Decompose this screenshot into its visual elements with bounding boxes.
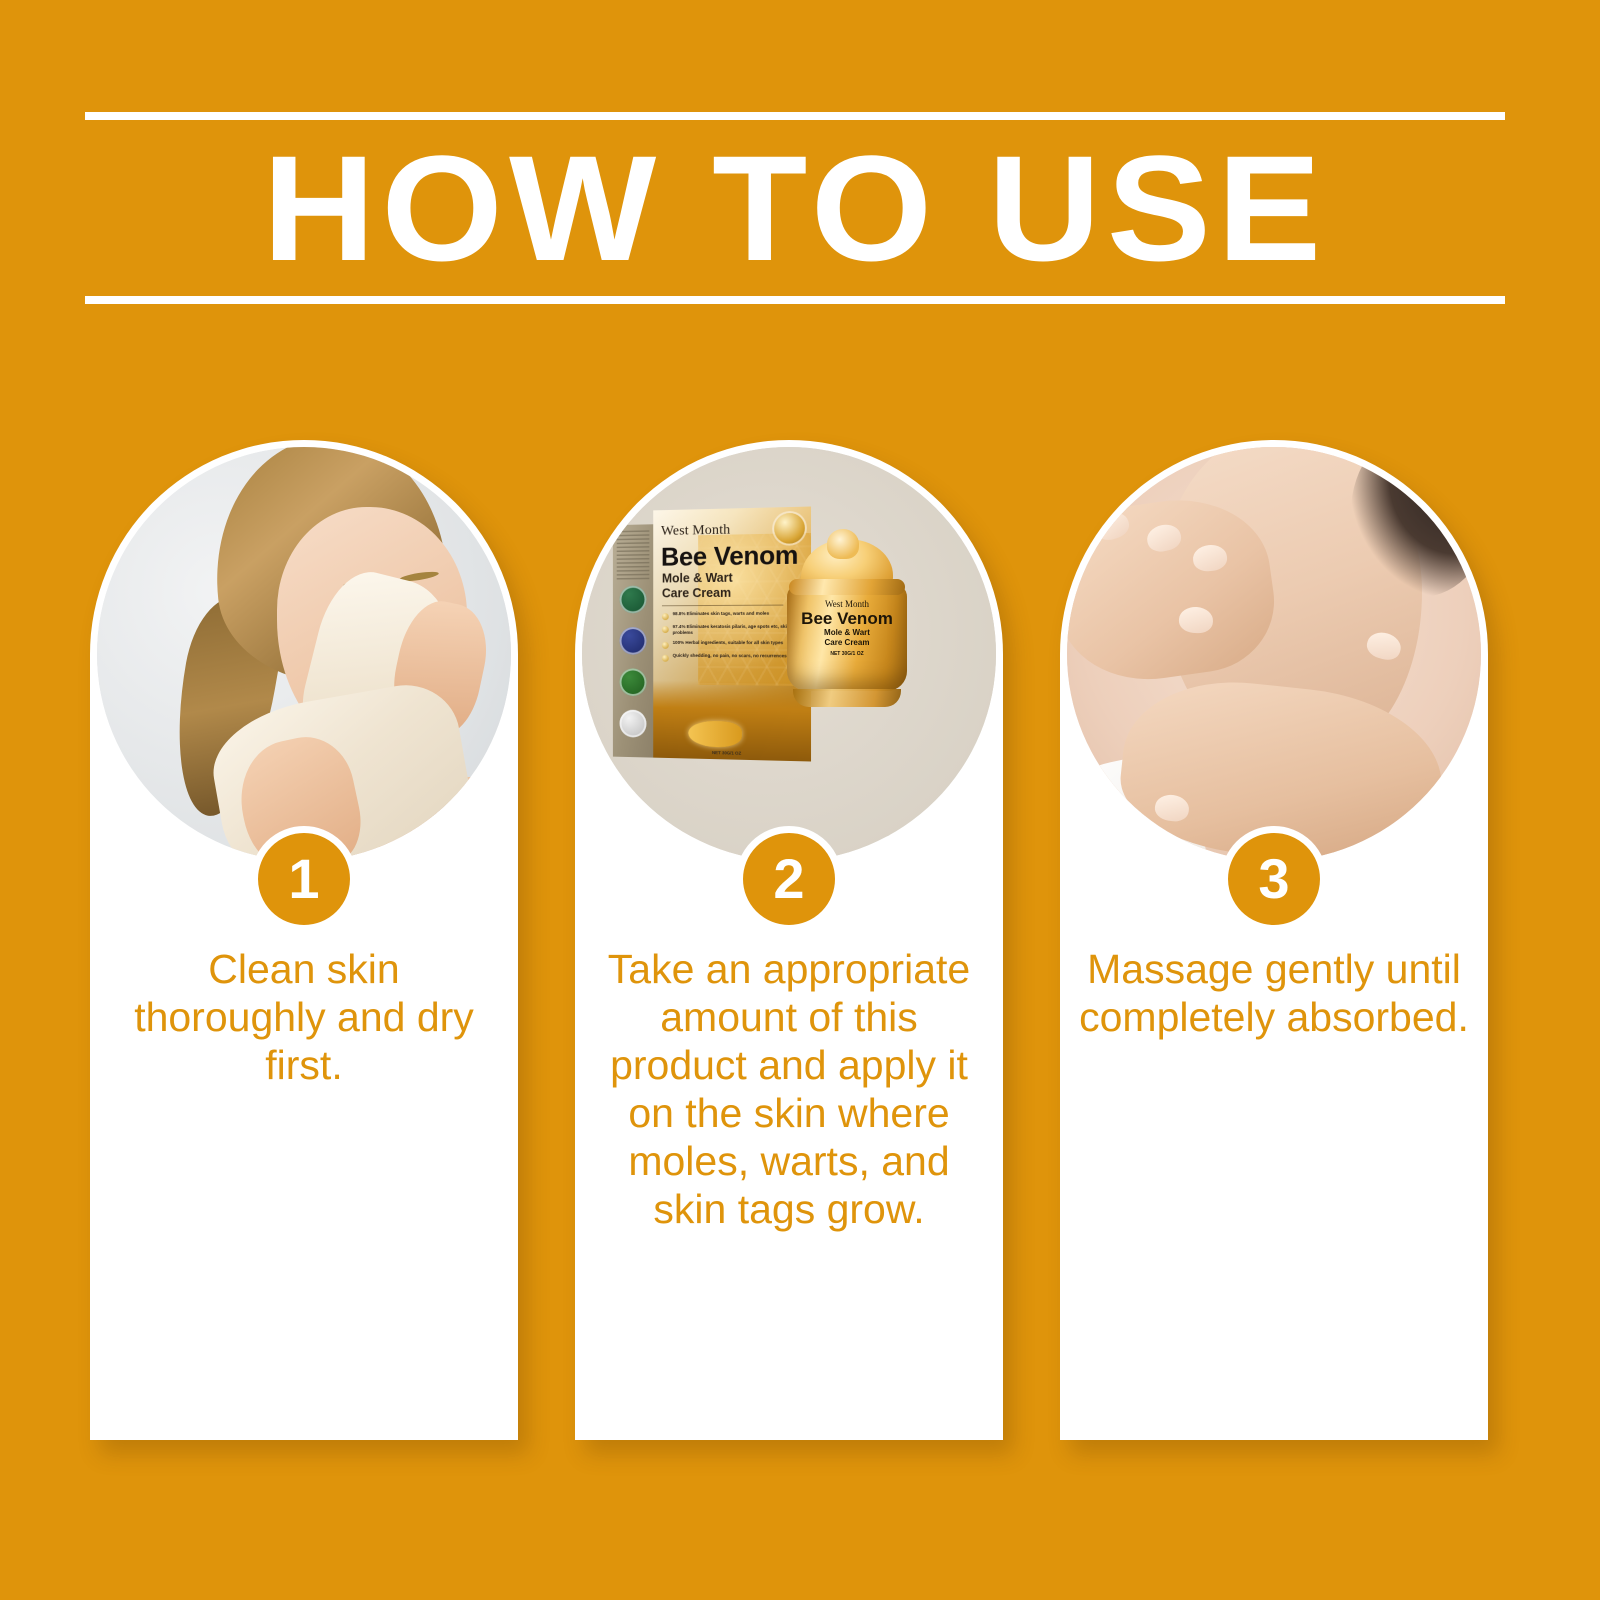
step-3-photo (1067, 447, 1481, 861)
box-bullet-item: 97.4% Eliminates keratosis pilaris, age … (662, 624, 802, 636)
box-badge-eliminate-warts (620, 586, 647, 614)
step-description-3: Massage gently until completely absorbed… (1078, 945, 1470, 1041)
box-subtitle: Mole & Wart Care Cream (662, 571, 733, 602)
title-rule-bottom (85, 296, 1505, 304)
bullet-dot-icon (662, 626, 669, 633)
box-subtitle-line-1: Mole & Wart (662, 571, 733, 587)
jar-headline: Bee Venom (795, 609, 899, 628)
bullet-dot-icon (662, 654, 669, 661)
page-header: HOW TO USE (85, 112, 1505, 304)
bullet-dot-icon (662, 642, 669, 649)
step-card-1[interactable]: 1 Clean skin thoroughly and dry first. (90, 440, 518, 1440)
box-net-weight: NET 30G/1 OZ (712, 750, 741, 756)
title-rule-top (85, 112, 1505, 120)
step-description-1: Clean skin thoroughly and dry first. (108, 945, 500, 1089)
step-2-photo: West Month Bee Venom Mole & Wart Care Cr… (582, 447, 996, 861)
box-badge-mole-regeneration (620, 627, 647, 655)
box-bullet-list: 98.8% Eliminates skin tags, warts and mo… (662, 611, 802, 667)
jar-subtitle-line-1: Mole & Wart (795, 628, 899, 638)
bee-venom-cream-product-image: West Month Bee Venom Mole & Wart Care Cr… (582, 447, 996, 861)
box-badge-herbal-ingredients (620, 668, 647, 696)
jar-label: West Month Bee Venom Mole & Wart Care Cr… (795, 599, 899, 657)
product-box-side-flap (613, 524, 653, 757)
product-jar: West Month Bee Venom Mole & Wart Care Cr… (787, 539, 907, 707)
step-card-3[interactable]: 3 Massage gently until completely absorb… (1060, 440, 1488, 1440)
jar-subtitle-line-2: Care Cream (795, 638, 899, 648)
step-card-2[interactable]: West Month Bee Venom Mole & Wart Care Cr… (575, 440, 1003, 1440)
step-1-photo (97, 447, 511, 861)
steps-row: 1 Clean skin thoroughly and dry first. (0, 440, 1600, 1450)
product-box: West Month Bee Venom Mole & Wart Care Cr… (613, 506, 811, 761)
bullet-dot-icon (662, 613, 669, 620)
step-description-2: Take an appropriate amount of this produ… (593, 945, 985, 1233)
box-brand: West Month (661, 523, 730, 540)
box-bullet-item: Quickly shedding, no pain, no scars, no … (662, 652, 802, 662)
page-title: HOW TO USE (57, 128, 1534, 288)
box-bullet-item: 100% Herbal ingredients, suitable for al… (662, 640, 802, 649)
box-subtitle-line-2: Care Cream (662, 586, 733, 602)
step-number-badge-2: 2 (736, 826, 842, 932)
box-headline: Bee Venom (661, 539, 798, 572)
jar-net-weight: NET 30G/1 OZ (795, 651, 899, 657)
step-number-badge-1: 1 (251, 826, 357, 932)
jar-brand: West Month (795, 599, 899, 609)
hands-massaging-neck-image (1067, 447, 1481, 861)
step-number-badge-3: 3 (1221, 826, 1327, 932)
box-bullet-item: 98.8% Eliminates skin tags, warts and mo… (662, 611, 802, 621)
box-badge-easy-to-use (620, 710, 647, 738)
woman-drying-face-with-towel-image (97, 447, 511, 861)
